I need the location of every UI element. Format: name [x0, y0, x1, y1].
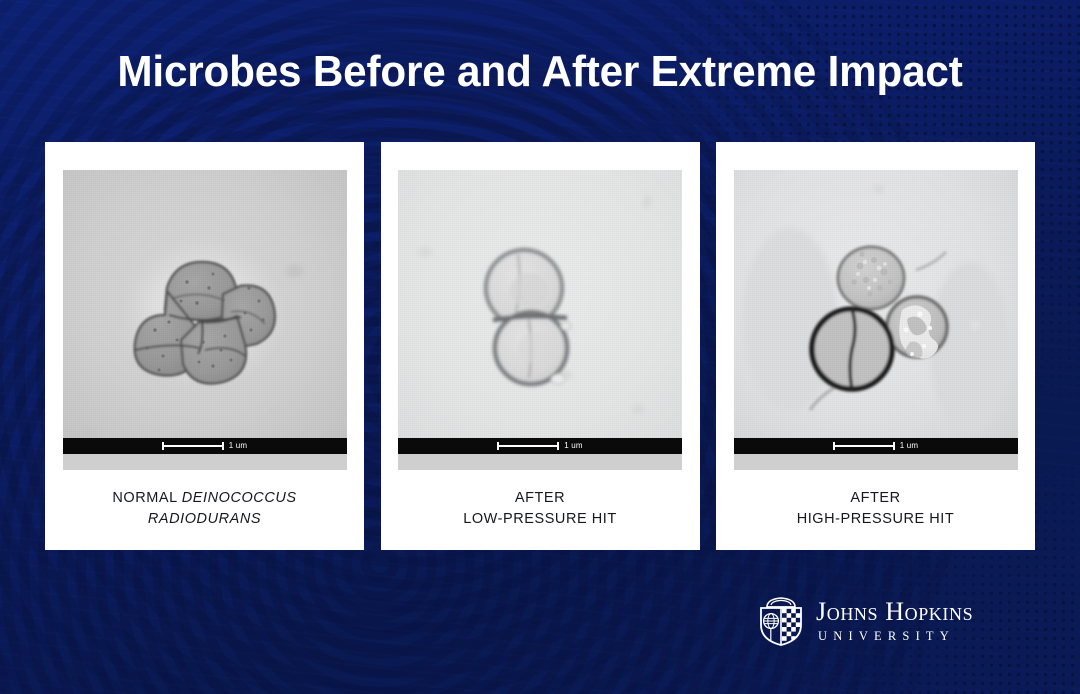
panel-caption-low-pressure: AFTER LOW-PRESSURE HIT [381, 470, 700, 550]
panel-low-pressure: 1 um AFTER LOW-PRESSURE HIT [381, 142, 700, 550]
caption-text: NORMAL DEINOCOCCUS RADIODURANS [112, 488, 296, 530]
micrograph-image-normal [63, 170, 347, 454]
micrograph-image-high-pressure [734, 170, 1018, 454]
caption-species-line1: DEINOCOCCUS [182, 490, 297, 506]
caption-line-2: HIGH-PRESSURE HIT [797, 511, 955, 527]
scalebar-line-icon [497, 445, 559, 447]
caption-text: AFTER HIGH-PRESSURE HIT [797, 488, 955, 530]
page-title: Microbes Before and After Extreme Impact [22, 47, 1059, 97]
diad-cells-illustration [398, 170, 682, 454]
panel-caption-normal: NORMAL DEINOCOCCUS RADIODURANS [45, 470, 364, 550]
johns-hopkins-shield-icon [758, 595, 804, 647]
scalebar-high-pressure: 1 um [734, 438, 1018, 454]
micrograph-normal: 1 um [63, 170, 347, 470]
scalebar-label: 1 um [564, 442, 583, 450]
micrograph-image-low-pressure [398, 170, 682, 454]
caption-prefix: NORMAL [112, 490, 181, 506]
johns-hopkins-logo: Johns Hopkins UNIVERSITY [758, 592, 1008, 650]
scalebar-label: 1 um [229, 442, 248, 450]
caption-line-1: AFTER [515, 490, 565, 506]
scalebar-line-icon [833, 445, 895, 447]
logo-wordmark-group: Johns Hopkins UNIVERSITY [816, 598, 973, 644]
panel-caption-high-pressure: AFTER HIGH-PRESSURE HIT [716, 470, 1035, 550]
scalebar-label: 1 um [900, 442, 919, 450]
logo-subtitle: UNIVERSITY [818, 629, 973, 644]
caption-text: AFTER LOW-PRESSURE HIT [463, 488, 617, 530]
damaged-cells-illustration [734, 170, 1018, 454]
tetrad-cells-illustration [63, 170, 347, 454]
micrograph-high-pressure: 1 um [734, 170, 1018, 470]
scalebar-low-pressure: 1 um [398, 438, 682, 454]
panel-normal: 1 um NORMAL DEINOCOCCUS RADIODURANS [45, 142, 364, 550]
panel-row: 1 um NORMAL DEINOCOCCUS RADIODURANS [45, 142, 1035, 550]
caption-line-1: AFTER [850, 490, 900, 506]
caption-line-2: LOW-PRESSURE HIT [463, 511, 617, 527]
caption-species-line2: RADIODURANS [148, 511, 261, 527]
micrograph-low-pressure: 1 um [398, 170, 682, 470]
scalebar-line-icon [162, 445, 224, 447]
logo-wordmark: Johns Hopkins [816, 598, 973, 626]
panel-high-pressure: 1 um AFTER HIGH-PRESSURE HIT [716, 142, 1035, 550]
infographic-root: Microbes Before and After Extreme Impact [0, 0, 1080, 694]
scalebar-normal: 1 um [63, 438, 347, 454]
